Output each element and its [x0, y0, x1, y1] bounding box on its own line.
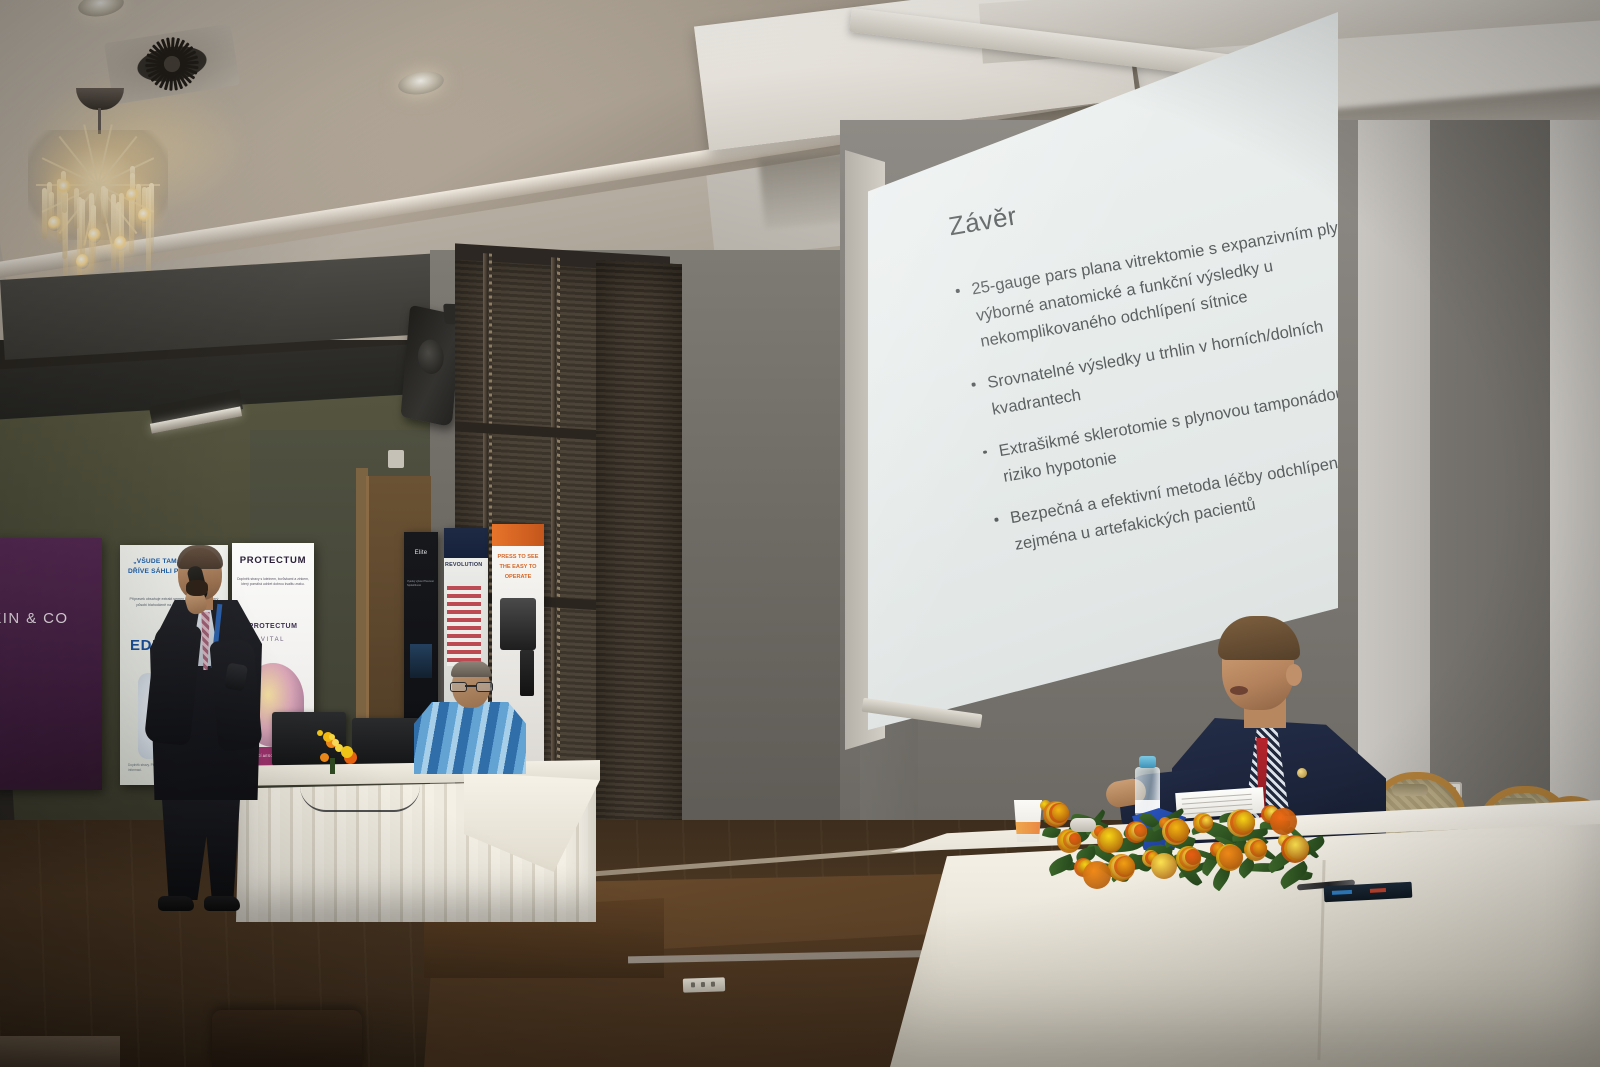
cup-label-band	[1013, 822, 1043, 834]
presenter-shoe	[158, 896, 194, 911]
wall-pilaster-dark	[1430, 120, 1550, 880]
flower-bloom	[1151, 853, 1177, 879]
banner-revolution-image	[447, 586, 481, 666]
presenter-arm-right	[209, 638, 262, 751]
flower-bloom	[1083, 861, 1111, 889]
presenter-shoe	[204, 896, 240, 911]
foreground-step	[0, 1036, 120, 1067]
window-blinds-secondary[interactable]	[596, 260, 682, 865]
chandelier-crystal	[74, 188, 79, 229]
flower-bloom	[1069, 833, 1081, 845]
eyeglasses-icon	[450, 682, 492, 690]
foreground-chair-back[interactable]	[212, 1010, 362, 1067]
conference-room-photo: Závěr 25-gauge pars plana vitrektomie s …	[0, 0, 1600, 1067]
eyeglass-bridge	[465, 685, 477, 687]
chandelier-bulb	[138, 208, 151, 223]
av-tech-table	[232, 760, 600, 922]
chandelier-bulb	[114, 236, 127, 251]
cable	[300, 786, 420, 812]
banner-device-image	[500, 598, 536, 650]
chairman-mouth	[1230, 686, 1248, 695]
technician-shirt	[414, 702, 526, 774]
light-switch[interactable]	[388, 450, 404, 468]
flower-vase-small	[314, 728, 352, 774]
flower-bloom	[1202, 816, 1213, 827]
flower-bloom	[1287, 837, 1309, 859]
booklet-accent	[1332, 890, 1352, 895]
booklet-accent-secondary	[1370, 888, 1386, 893]
flower-bloom	[332, 739, 339, 746]
banner-skin-co-text: SKIN & CO	[0, 610, 110, 627]
flower-bloom	[1100, 828, 1123, 851]
lapel-pin-icon	[1297, 768, 1307, 778]
flower-bloom	[1219, 845, 1243, 869]
socket-prong	[701, 982, 705, 987]
chandelier-bulb	[126, 188, 139, 203]
banner-revolution-header	[444, 528, 488, 558]
eyeglass-lens	[476, 682, 493, 692]
floor-power-socket[interactable]	[683, 977, 725, 992]
flower-bloom	[320, 753, 329, 762]
wall-pilaster-light	[1550, 120, 1600, 880]
presenter-mouth	[186, 580, 208, 596]
chandelier-crystal	[42, 188, 47, 239]
banner-elite-image	[410, 644, 432, 678]
banner-revolution-text: REVOLUTION	[445, 562, 487, 568]
banner-elite-brand: Elite	[406, 550, 436, 556]
chandelier-bulb	[88, 228, 101, 243]
chandelier-crystal	[130, 173, 135, 239]
flower-bloom	[1134, 824, 1147, 837]
flower-bloom	[1052, 804, 1069, 821]
chairman-ear	[1286, 664, 1302, 686]
chandelier-crystal	[101, 186, 106, 224]
flower-bloom	[1270, 808, 1297, 835]
banner-protectum-sub: Doplněk stravy s luteinem, borůvkami a z…	[237, 577, 309, 588]
banner-device-text: PRESS TO SEE THE EASY TO OPERATE	[494, 552, 542, 582]
flower-stem	[330, 758, 335, 774]
socket-prong	[691, 982, 695, 987]
flower-bloom	[1253, 841, 1267, 855]
presenter-hair	[177, 545, 223, 569]
bottle-cap	[1139, 756, 1156, 768]
banner-device-header	[492, 524, 544, 546]
flower-bloom	[1117, 857, 1135, 875]
socket-prong	[711, 982, 715, 987]
banner-skin-co: SKIN & CO	[0, 538, 102, 790]
chandelier-crystal	[146, 187, 151, 276]
chandelier-crystal	[80, 199, 85, 255]
flower-bloom	[1185, 849, 1201, 865]
foliage-leaf	[1046, 854, 1075, 877]
flower-bloom	[1236, 812, 1255, 831]
chandelier-bulb	[58, 180, 71, 195]
loudspeaker-icon	[400, 305, 461, 427]
banner-elite-lines: Vysoký výkon Přesnost Spolehlivost	[407, 580, 435, 589]
speaker-cone	[417, 337, 446, 376]
flower-bloom	[1168, 820, 1189, 841]
chair-handle-slot	[1392, 784, 1428, 796]
technician-hair	[451, 661, 491, 677]
eyeglass-lens	[450, 682, 467, 692]
computer-mouse-icon[interactable]	[1070, 818, 1096, 832]
banner-device-image-secondary	[520, 650, 534, 696]
chandelier-canopy	[76, 88, 124, 110]
banner-protectum-brand: PROTECTUM	[236, 555, 310, 566]
slide-title: Závěr	[946, 200, 1019, 242]
chandelier-bulb	[76, 254, 89, 269]
flower-bloom	[329, 734, 335, 740]
flower-bloom	[341, 746, 353, 758]
chandelier-bulb	[48, 216, 61, 231]
